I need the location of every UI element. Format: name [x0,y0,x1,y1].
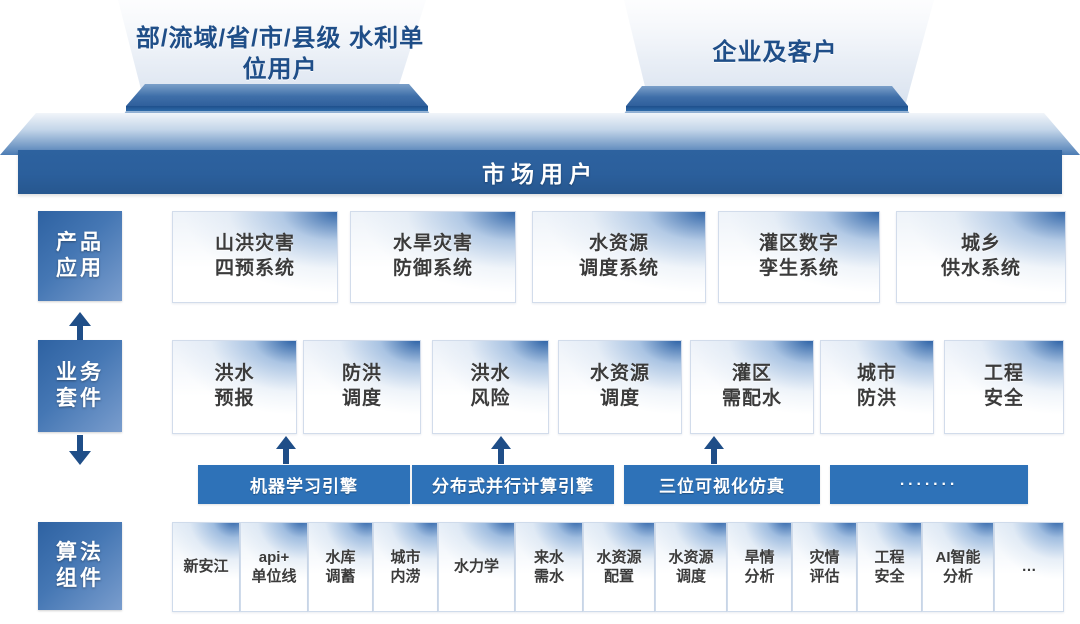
product-card-4-label: 灌区数字 孪生系统 [759,232,839,281]
product-card-3[interactable]: 水资源 调度系统 [532,211,706,303]
row-label-product: 产品 应用 [38,211,122,301]
suite-card-6[interactable]: 城市 防洪 [820,340,934,434]
algo-card-8[interactable]: 水资源 调度 [655,522,727,612]
suite-card-7-label: 工程 安全 [984,362,1024,411]
suite-card-1[interactable]: 洪水 预报 [172,340,297,434]
arrow-up-engine-1 [274,436,298,464]
suite-card-4[interactable]: 水资源 调度 [558,340,682,434]
engine-bar-1-label: 机器学习引擎 [250,472,358,497]
suite-card-2-label: 防洪 调度 [342,362,382,411]
algo-card-7-label: 水资源 配置 [596,548,641,587]
product-card-2-label: 水旱灾害 防御系统 [393,232,473,281]
arrow-up-engine-3 [702,436,726,464]
product-card-4[interactable]: 灌区数字 孪生系统 [718,211,880,303]
engine-bar-3[interactable]: 三位可视化仿真 [624,465,820,504]
arrow-up-product [66,312,94,342]
algo-card-1[interactable]: 新安江 [172,522,240,612]
product-card-2[interactable]: 水旱灾害 防御系统 [350,211,516,303]
row-label-suite: 业务 套件 [38,340,122,432]
arrow-up-engine-2 [489,436,513,464]
product-card-1-label: 山洪灾害 四预系统 [215,232,295,281]
engine-bar-2[interactable]: 分布式并行计算引擎 [412,465,614,504]
algo-card-9[interactable]: 旱情 分析 [727,522,792,612]
suite-card-6-label: 城市 防洪 [857,362,897,411]
engine-bar-3-label: 三位可视化仿真 [659,472,785,497]
suite-card-3-label: 洪水 风险 [470,362,510,411]
engine-bar-4[interactable]: ······· [830,465,1028,504]
engine-bar-2-label: 分布式并行计算引擎 [432,472,594,497]
algo-card-3[interactable]: 水库 调蓄 [308,522,373,612]
algo-card-11[interactable]: 工程 安全 [857,522,922,612]
row-label-algorithm: 算法 组件 [38,522,122,610]
algo-card-12-label: AI智能 分析 [935,548,980,587]
algo-card-11-label: 工程 安全 [874,548,904,587]
left-podium-title: 部/流域/省/市/县级 水利单位用户 [130,24,430,85]
algo-card-5-label: 水力学 [454,557,499,577]
row-label-algorithm-text: 算法 组件 [56,540,104,591]
algo-card-5[interactable]: 水力学 [438,522,515,612]
algo-card-10-label: 灾情 评估 [809,548,839,587]
suite-card-1-label: 洪水 预报 [214,362,254,411]
algo-card-4[interactable]: 城市 内涝 [373,522,438,612]
suite-card-4-label: 水资源 调度 [590,362,650,411]
algo-card-10[interactable]: 灾情 评估 [792,522,857,612]
suite-card-5[interactable]: 灌区 需配水 [690,340,814,434]
diagram-canvas: 市场用户 部/流域/省/市/县级 水利单位用户 企业及客户 产品 应用 山洪灾害… [0,0,1080,624]
product-card-1[interactable]: 山洪灾害 四预系统 [172,211,338,303]
row-label-suite-text: 业务 套件 [56,360,104,411]
product-card-5-label: 城乡 供水系统 [941,232,1021,281]
suite-card-2[interactable]: 防洪 调度 [303,340,421,434]
market-users-bar: 市场用户 [18,150,1062,194]
algo-card-13-label: … [1022,557,1037,577]
algo-card-8-label: 水资源 调度 [668,548,713,587]
algo-card-6[interactable]: 来水 需水 [515,522,583,612]
right-podium-title: 企业及客户 [625,38,925,69]
algo-card-2-label: api+ 单位线 [251,548,296,587]
engine-bar-1[interactable]: 机器学习引擎 [198,465,410,504]
suite-card-7[interactable]: 工程 安全 [944,340,1064,434]
market-users-label: 市场用户 [482,155,598,189]
suite-card-3[interactable]: 洪水 风险 [432,340,549,434]
algo-card-4-label: 城市 内涝 [390,548,420,587]
base-platform-top [0,113,1080,155]
row-label-product-text: 产品 应用 [56,230,104,281]
product-card-5[interactable]: 城乡 供水系统 [896,211,1066,303]
algo-card-12[interactable]: AI智能 分析 [922,522,994,612]
algo-card-9-label: 旱情 分析 [744,548,774,587]
algo-card-6-label: 来水 需水 [534,548,564,587]
algo-card-1-label: 新安江 [183,557,228,577]
suite-card-5-label: 灌区 需配水 [722,362,782,411]
algo-card-2[interactable]: api+ 单位线 [240,522,308,612]
algo-card-3-label: 水库 调蓄 [325,548,355,587]
product-card-3-label: 水资源 调度系统 [579,232,659,281]
algo-card-13[interactable]: … [994,522,1064,612]
algo-card-7[interactable]: 水资源 配置 [583,522,655,612]
arrow-down-suite [66,435,94,465]
engine-bar-4-label: ······· [900,476,958,494]
